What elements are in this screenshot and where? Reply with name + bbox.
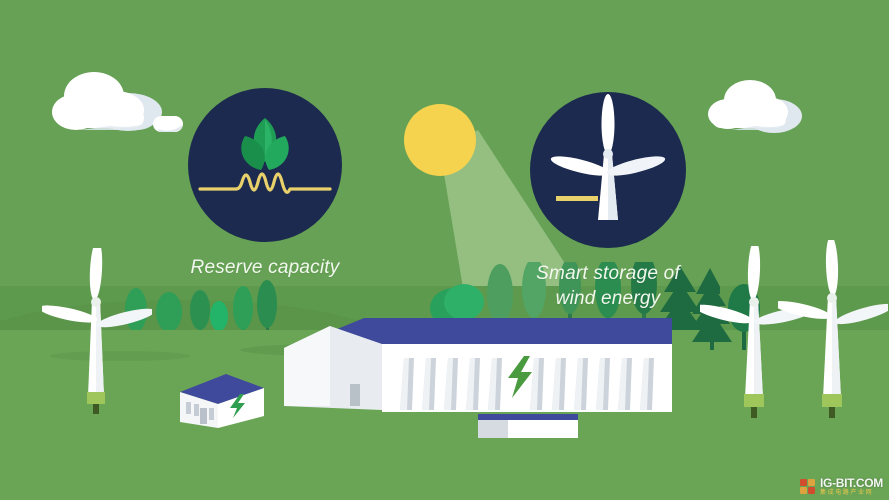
smart-storage-disc xyxy=(530,92,686,248)
energy-storage-facility xyxy=(272,310,672,438)
smart-storage-caption: Smart storage of wind energy xyxy=(530,262,686,311)
wind-turbine-icon xyxy=(530,92,686,248)
sun-icon xyxy=(404,104,476,176)
wind-turbine-right-far xyxy=(778,240,888,420)
watermark: IG-BIT.COM 集成电路产业网 xyxy=(800,477,883,496)
ig-bit-logo-icon xyxy=(800,478,817,495)
leaves-with-waveform-icon xyxy=(188,88,342,242)
reserve-capacity-caption: Reserve capacity xyxy=(188,256,342,281)
watermark-main-text: IG-BIT.COM xyxy=(820,477,883,489)
cloud-large-left-icon xyxy=(50,68,168,134)
badge-smart-storage[interactable]: Smart storage of wind energy xyxy=(530,92,686,311)
reserve-capacity-disc xyxy=(188,88,342,242)
wind-turbine-left xyxy=(42,248,152,418)
substation-house xyxy=(168,370,272,432)
illustration-scene: Reserve capacity Smart storage of wind e… xyxy=(0,0,889,500)
cloud-large-right-icon xyxy=(706,78,804,138)
badge-reserve-capacity[interactable]: Reserve capacity xyxy=(188,88,342,281)
smart-storage-caption-line2: wind energy xyxy=(530,287,686,312)
cloud-small-left-icon xyxy=(152,113,184,135)
smart-storage-caption-line1: Smart storage of xyxy=(530,262,686,287)
watermark-sub-text: 集成电路产业网 xyxy=(820,490,883,496)
